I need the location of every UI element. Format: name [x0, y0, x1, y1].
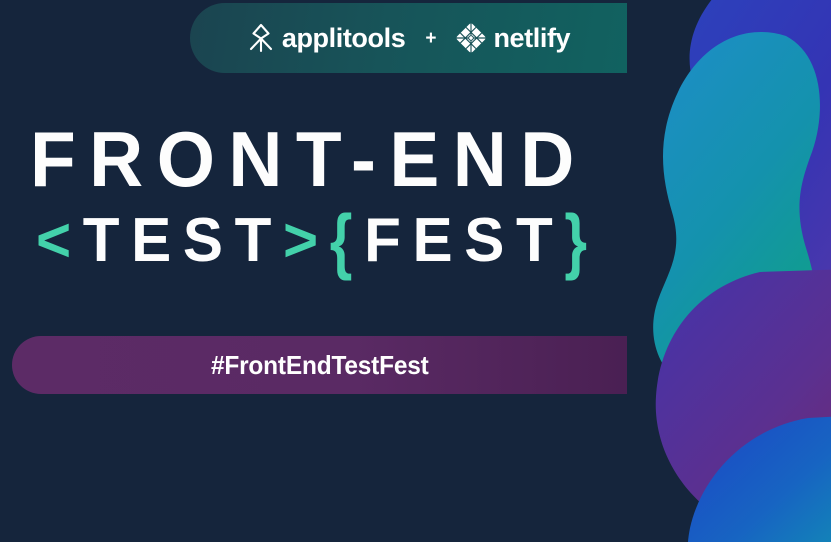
event-title: FRONT-END <TEST>{FEST} — [30, 118, 616, 274]
applitools-brand: applitools — [247, 23, 406, 53]
title-line-front-end: FRONT-END — [30, 118, 593, 200]
netlify-diamond-icon — [456, 23, 486, 53]
applitools-wordmark: applitools — [282, 25, 406, 52]
curly-close-bracket: } — [564, 201, 598, 282]
event-promo-banner: applitools + netlify — [0, 0, 831, 542]
teal-blob — [653, 32, 820, 401]
title-line-test-fest: <TEST>{FEST} — [36, 208, 599, 274]
hashtag-label: #FrontEndTestFest — [211, 350, 429, 381]
indigo-blob — [688, 0, 831, 534]
netlify-wordmark: netlify — [493, 25, 570, 52]
purple-blob — [656, 268, 831, 542]
title-word-test: TEST — [83, 206, 283, 275]
banner-plus-separator: + — [425, 29, 436, 48]
applitools-star-icon — [247, 23, 275, 53]
curly-open-bracket: { — [330, 201, 364, 282]
netlify-brand: netlify — [456, 23, 570, 53]
partner-banner: applitools + netlify — [190, 3, 627, 73]
blue-cyan-blob — [688, 414, 831, 542]
angle-close-bracket: > — [283, 206, 330, 275]
hashtag-bar: #FrontEndTestFest — [12, 336, 627, 394]
angle-open-bracket: < — [36, 206, 83, 275]
title-word-fest: FEST — [364, 206, 564, 275]
